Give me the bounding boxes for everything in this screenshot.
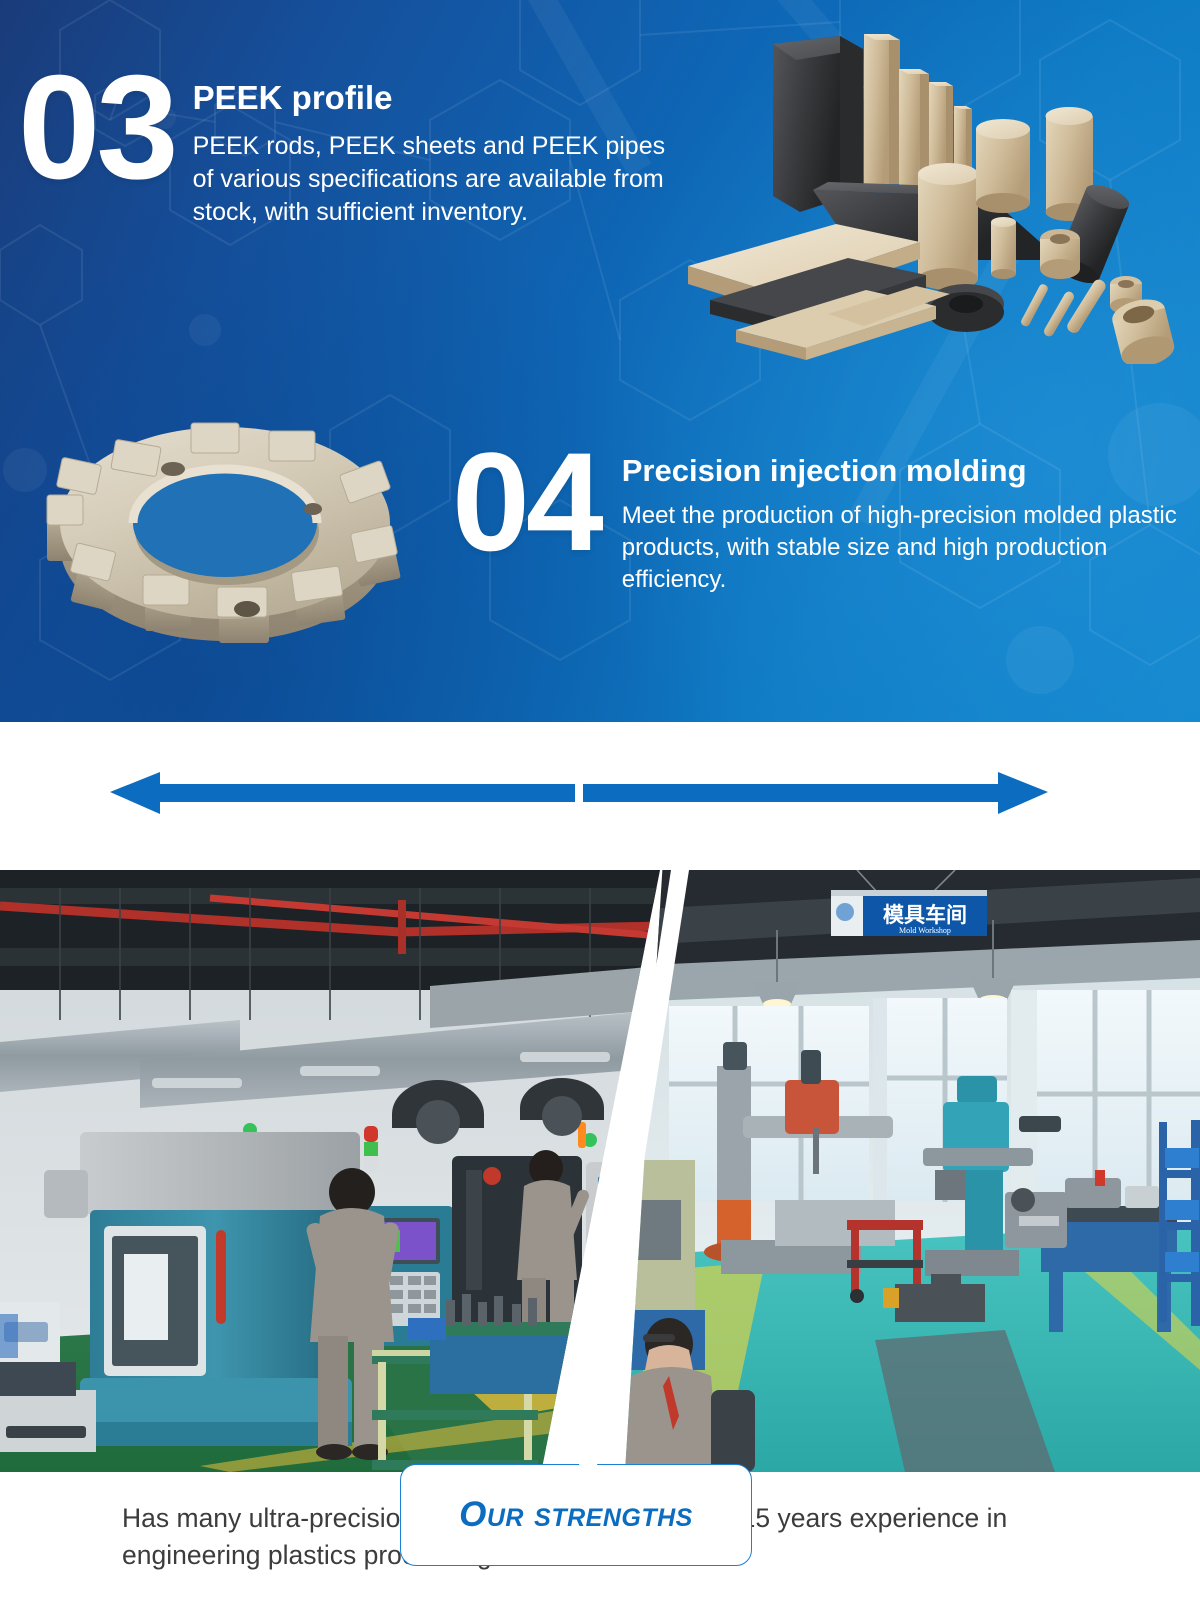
hero-block-03: 03 PEEK profile PEEK rods, PEEK sheets a… (18, 58, 678, 229)
mold-workshop-illustration: 模具车间 Mold Workshop (625, 870, 1200, 1472)
block-body-03: PEEK rods, PEEK sheets and PEEK pipes of… (193, 130, 678, 229)
peek-products-illustration (688, 14, 1188, 364)
strengths-banner: Our strengths (0, 722, 1200, 870)
peek-profile-products-image (688, 14, 1188, 364)
block-title-04: Precision injection molding (622, 454, 1182, 488)
arrow-left-icon (110, 772, 575, 814)
block-body-04: Meet the production of high-precision mo… (622, 500, 1182, 596)
strengths-label: Our strengths (459, 1495, 693, 1535)
strengths-label-box: Our strengths (400, 1464, 752, 1566)
factory-photos: 模具车间 Mold Workshop (0, 870, 1200, 1472)
arrow-right-icon (583, 772, 1048, 814)
hero-section: 03 PEEK profile PEEK rods, PEEK sheets a… (0, 0, 1200, 722)
hero-block-04: 04 Precision injection molding Meet the … (452, 436, 1182, 596)
double-arrow-graphic (0, 722, 1200, 870)
svg-text:Mold Workshop: Mold Workshop (899, 926, 951, 935)
peek-gear-ring-image (40, 405, 410, 660)
block-title-03: PEEK profile (193, 80, 678, 116)
cnc-workshop-photo (0, 870, 660, 1472)
mold-workshop-photo: 模具车间 Mold Workshop (625, 870, 1200, 1472)
gear-ring-illustration (40, 405, 410, 660)
block-number-04: 04 (452, 436, 600, 596)
cnc-workshop-illustration (0, 870, 660, 1472)
block-number-03: 03 (18, 58, 175, 229)
promo-page: 03 PEEK profile PEEK rods, PEEK sheets a… (0, 0, 1200, 1616)
svg-text:模具车间: 模具车间 (883, 903, 967, 927)
